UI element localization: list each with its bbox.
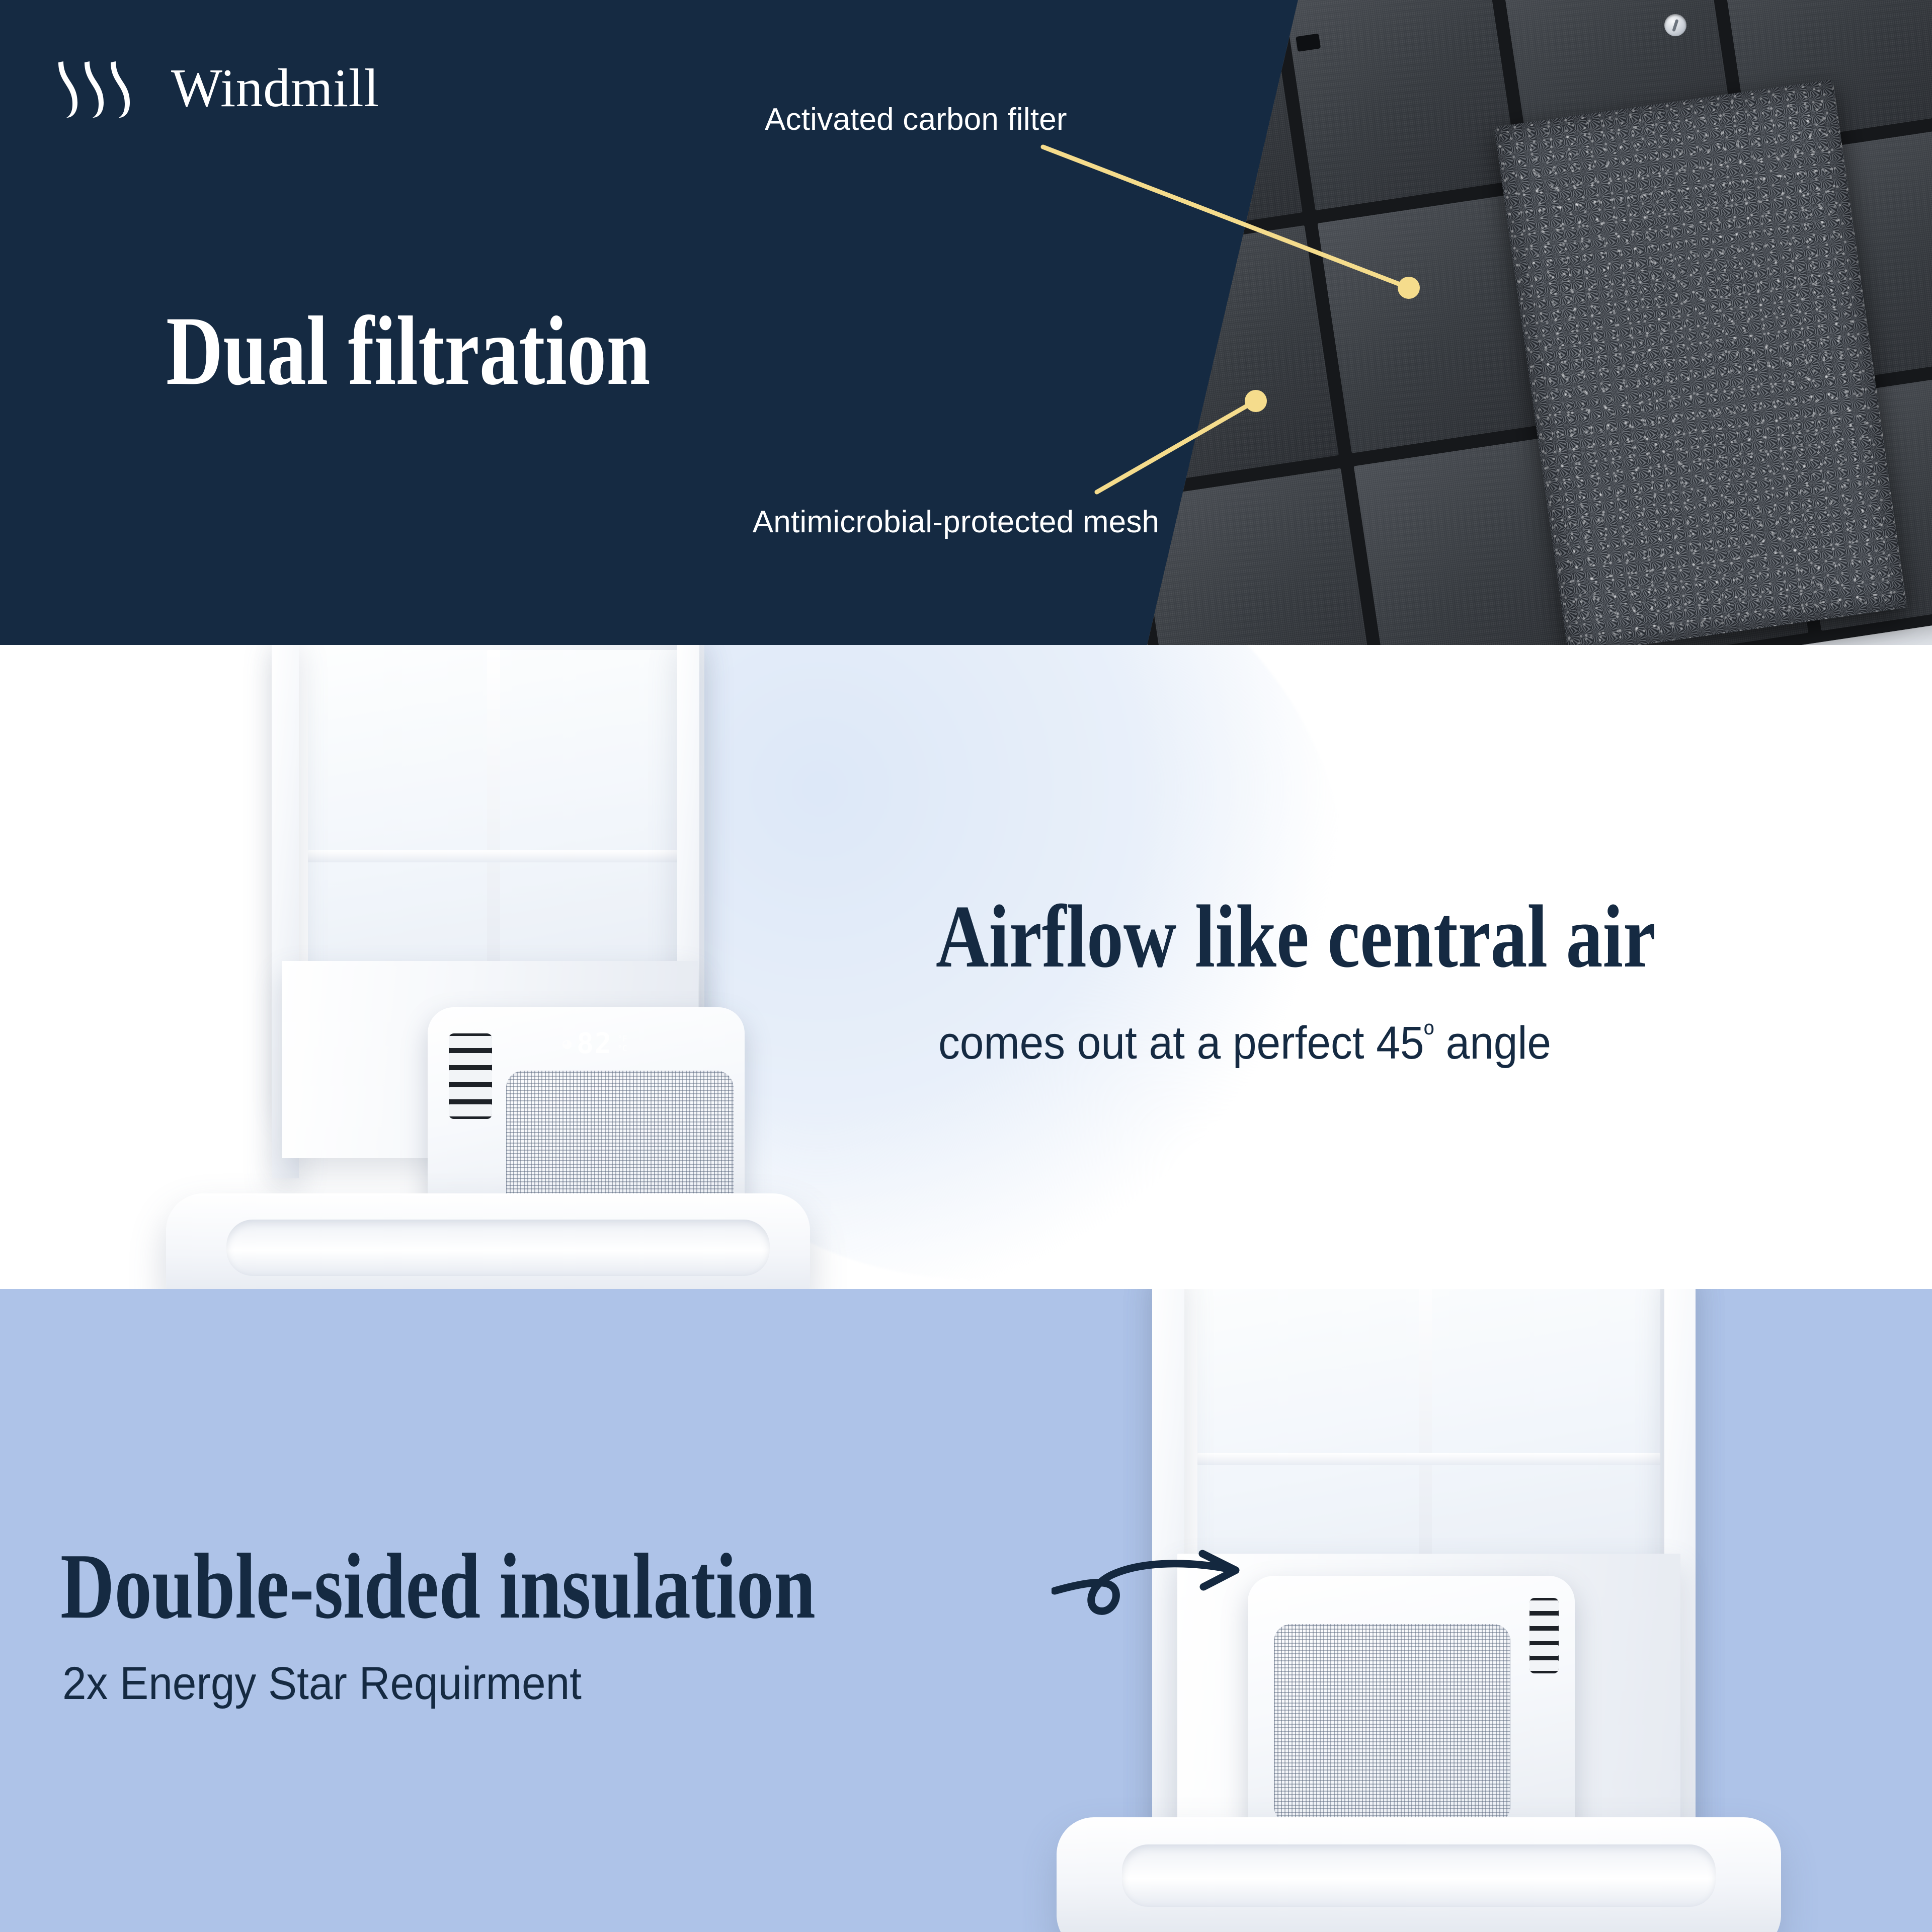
unit-fahrenheit: °F — [618, 1034, 627, 1043]
air-conditioner-unit: ◕ 82 °F °C — [428, 1007, 745, 1224]
ac-front-grille — [1274, 1624, 1510, 1823]
window-sill-inner — [1122, 1844, 1716, 1907]
ac-temperature-units: °F °C — [618, 1034, 627, 1053]
window-sill-base — [166, 1193, 810, 1289]
window-mullion-vertical — [1419, 1289, 1432, 1556]
panel-airflow: ◕ 82 °F °C Airflow like central air come… — [0, 645, 1932, 1289]
three-wave-strokes-icon — [54, 54, 158, 123]
ac-side-vent — [1530, 1598, 1559, 1673]
subhead-airflow: comes out at a perfect 45º angle — [938, 1020, 1551, 1066]
panel-dual-filtration: Windmill Dual filtration Activated carbo… — [0, 0, 1932, 645]
window-mullion-horizontal — [1197, 1453, 1660, 1465]
callout-antimicrobial-mesh: Antimicrobial-protected mesh — [740, 503, 1172, 541]
page-title-filtration: Dual filtration — [166, 302, 651, 400]
window-ac-scene: ◕ 82 °F °C — [0, 645, 880, 1289]
ac-temperature-value: 82 — [577, 1027, 612, 1060]
window-mullion-vertical — [487, 650, 500, 962]
callout-activated-carbon-filter: Activated carbon filter — [765, 101, 1067, 139]
subhead-airflow-text: comes out at a perfect 45 — [938, 1017, 1424, 1069]
unit-celsius: °C — [618, 1043, 627, 1053]
page-title-insulation: Double-sided insulation — [60, 1540, 816, 1633]
mesh-cell — [1147, 0, 1302, 243]
wifi-icon: ◕ — [562, 1035, 572, 1053]
page-title-airflow: Airflow like central air — [936, 892, 1656, 981]
filter-photo — [1147, 0, 1932, 645]
window-sill-inner — [226, 1220, 770, 1276]
subhead-airflow-suffix: angle — [1434, 1017, 1551, 1069]
brand-name: Windmill — [171, 61, 379, 116]
screw-icon — [1664, 14, 1686, 36]
mesh-cell — [1281, 0, 1519, 211]
window-sill-base — [1057, 1817, 1781, 1932]
curved-arrow-icon — [1052, 1550, 1268, 1675]
window-mullion-horizontal — [308, 850, 678, 862]
mesh-cell — [1147, 225, 1339, 486]
brand-logo[interactable]: Windmill — [54, 54, 379, 123]
mesh-cell — [1147, 468, 1375, 645]
degree-symbol: º — [1424, 1018, 1433, 1050]
ac-temperature-display: ◕ 82 °F °C — [562, 1027, 627, 1060]
air-conditioner-unit — [1248, 1576, 1575, 1842]
ac-side-vent — [449, 1033, 492, 1119]
subhead-insulation: 2x Energy Star Requirment — [62, 1660, 582, 1707]
